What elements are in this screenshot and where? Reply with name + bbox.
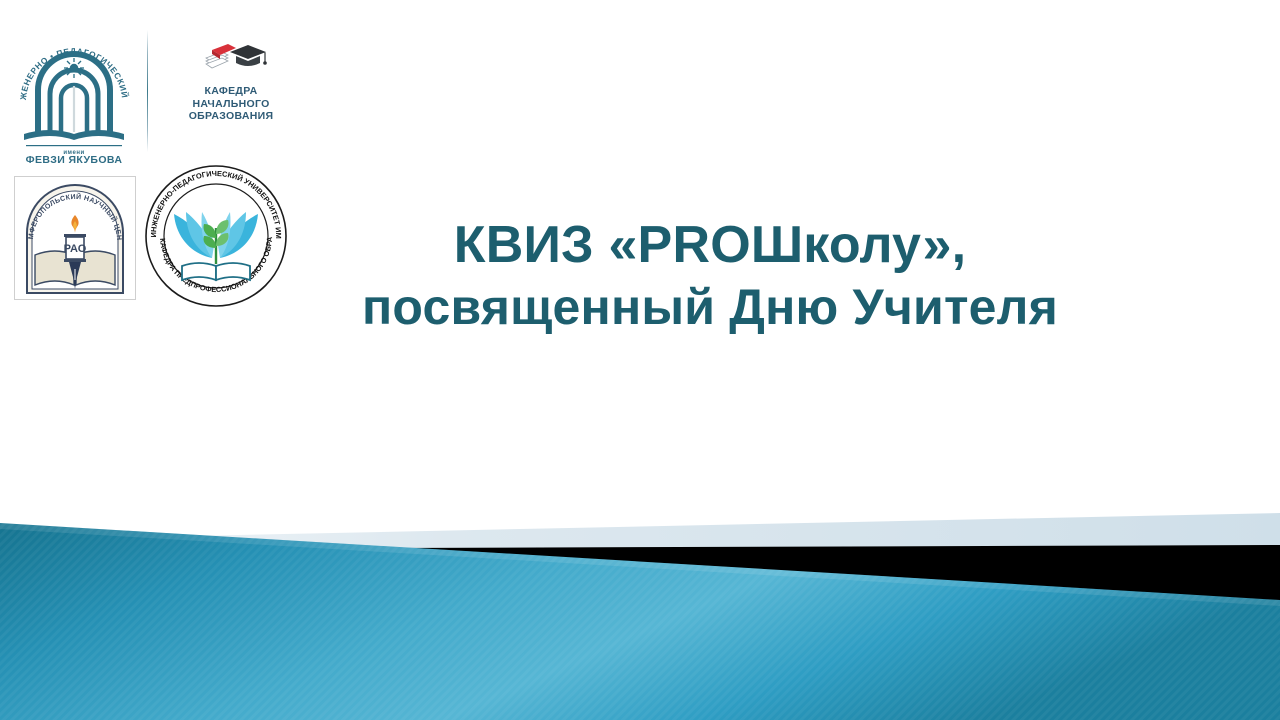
kipu-university-logo: КРЫМСКИЙ ИНЖЕНЕРНО • ПЕДАГОГИЧЕСКИЙ УНИВ… [12,28,136,164]
kipu-preprofessional-education-logo: КРЫМСКИЙ ИНЖЕНЕРНО-ПЕДАГОГИЧЕСКИЙ УНИВЕР… [142,162,290,310]
logo-band: КРЫМСКИЙ ИНЖЕНЕРНО • ПЕДАГОГИЧЕСКИЙ УНИВ… [0,0,300,310]
books-and-cap-icon [176,38,286,78]
slide-title: КВИЗ «PROШколу», посвященный Дню Учителя [300,214,1120,338]
kipu-sub2: ФЕВЗИ ЯКУБОВА [26,154,123,164]
simferopol-scientific-center-logo: СИМФЕРОПОЛЬСКИЙ НАУЧНЫЙ ЦЕНТР РАО [14,176,136,300]
kafedra-caption: КАФЕДРА НАЧАЛЬНОГО ОБРАЗОВАНИЯ [176,85,286,123]
decor-light-wedge [0,513,1280,560]
decor-teal-wedge [0,523,1280,720]
snc-lamp-text: РАО [64,243,87,255]
decor-black-wedge [392,545,1280,720]
title-line-1: КВИЗ «PROШколу», [300,214,1120,276]
kafedra-logo: КАФЕДРА НАЧАЛЬНОГО ОБРАЗОВАНИЯ [176,38,286,124]
presentation-slide: КРЫМСКИЙ ИНЖЕНЕРНО • ПЕДАГОГИЧЕСКИЙ УНИВ… [0,0,1280,720]
title-line-2: посвященный Дню Учителя [300,276,1120,338]
logo-divider [147,30,148,152]
